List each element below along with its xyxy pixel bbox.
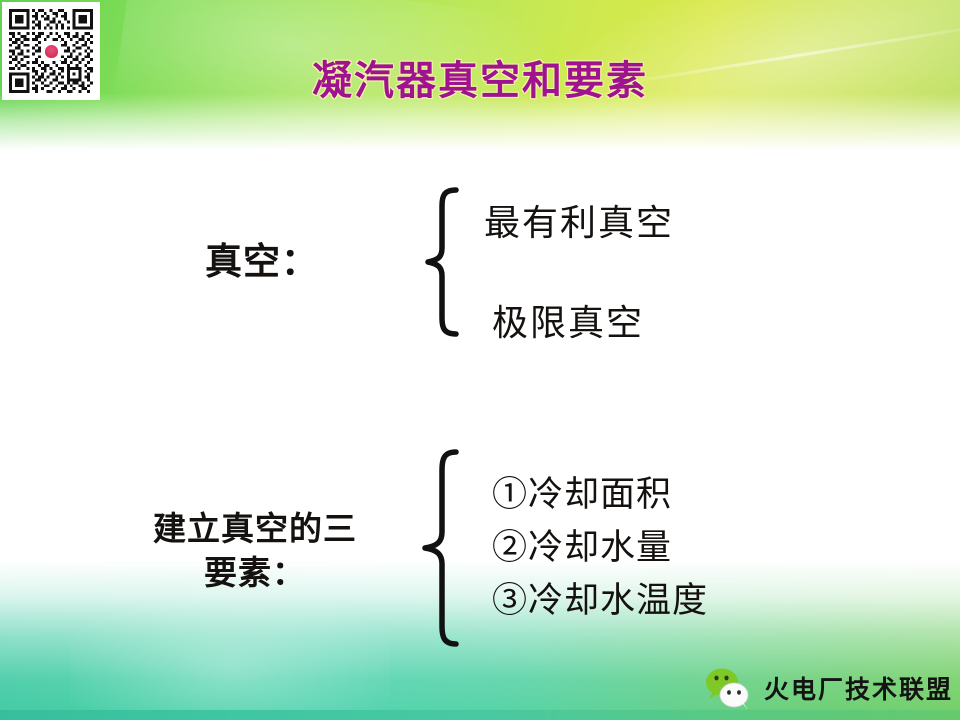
group-2-item-3: ③冷却水温度 bbox=[492, 572, 708, 623]
group-2-label-line-2: 要素： bbox=[110, 552, 400, 596]
group-1-brace-icon bbox=[412, 186, 468, 338]
group-1-item-1: 最有利真空 bbox=[484, 194, 674, 246]
group-2-item-2: ②冷却水量 bbox=[492, 519, 672, 570]
wechat-icon-glyph bbox=[702, 664, 754, 712]
group-2-item-1: ①冷却面积 bbox=[492, 466, 672, 517]
group-2-brace-icon bbox=[410, 448, 468, 648]
group-1-item-2: 极限真空 bbox=[492, 294, 644, 346]
group-2-label-line-1: 建立真空的三 bbox=[110, 508, 400, 552]
footer-text: 火电厂技术联盟 bbox=[764, 670, 953, 706]
group-2-label: 建立真空的三 要素： bbox=[110, 508, 400, 596]
group-1-label: 真空： bbox=[205, 231, 319, 285]
wechat-icon bbox=[702, 664, 754, 712]
page-title: 凝汽器真空和要素 bbox=[0, 48, 960, 106]
slide-canvas: 凝汽器真空和要素 真空： 最有利真空 极限真空 建立真空的三 要素： ①冷却面积… bbox=[0, 0, 960, 720]
footer-watermark: 火电厂技术联盟 bbox=[702, 664, 953, 712]
